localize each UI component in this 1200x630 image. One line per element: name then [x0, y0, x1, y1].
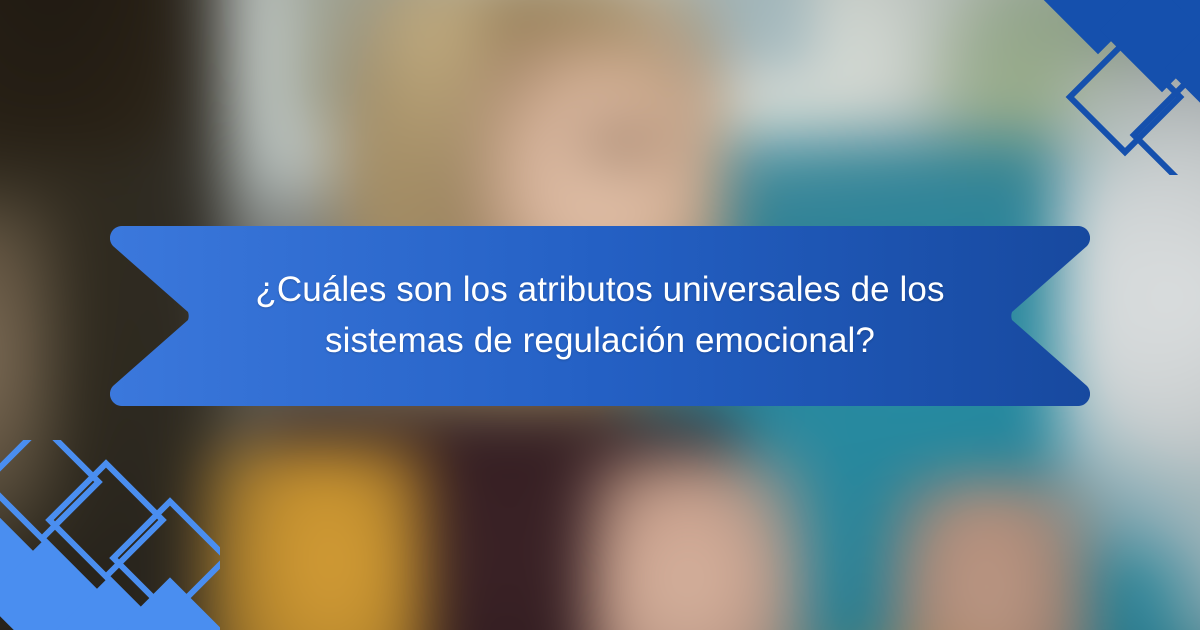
headline-text: ¿Cuáles son los atributos universales de…: [110, 226, 1090, 406]
share-card: ¿Cuáles son los atributos universales de…: [0, 0, 1200, 630]
headline-line-1: ¿Cuáles son los atributos universales de…: [255, 265, 944, 316]
headline-ribbon: ¿Cuáles son los atributos universales de…: [110, 226, 1090, 406]
diamond-pattern-bottom-left: [0, 440, 220, 630]
headline-line-2: sistemas de regulación emocional?: [325, 316, 875, 367]
diamond-pattern-top-right: [1000, 0, 1200, 175]
